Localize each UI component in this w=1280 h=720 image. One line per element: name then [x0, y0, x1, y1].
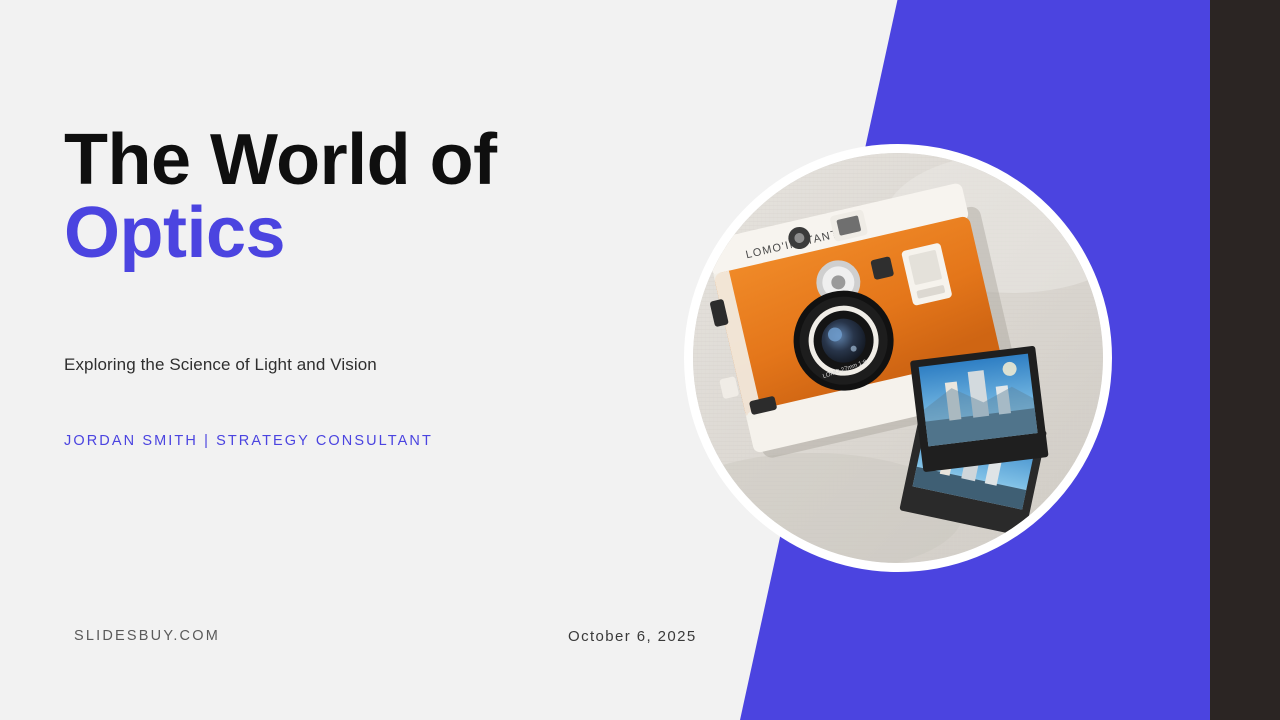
footer-brand: SLIDESBUY.COM: [74, 628, 220, 644]
presenter-byline: JORDAN SMITH | STRATEGY CONSULTANT: [64, 433, 433, 449]
page-title-line-2: Optics: [64, 197, 664, 270]
hero-photo-image: LOMO'INSTANT: [693, 153, 1103, 563]
slide-canvas: The World of Optics Exploring the Scienc…: [0, 0, 1280, 720]
camera-photo-illustration: LOMO'INSTANT: [693, 153, 1103, 563]
title-block: The World of Optics: [64, 124, 664, 271]
slide-subtitle: Exploring the Science of Light and Visio…: [64, 355, 377, 375]
page-title-line-1: The World of: [64, 124, 664, 197]
footer-date: October 6, 2025: [568, 628, 697, 645]
hero-photo-circle: LOMO'INSTANT: [684, 144, 1112, 572]
